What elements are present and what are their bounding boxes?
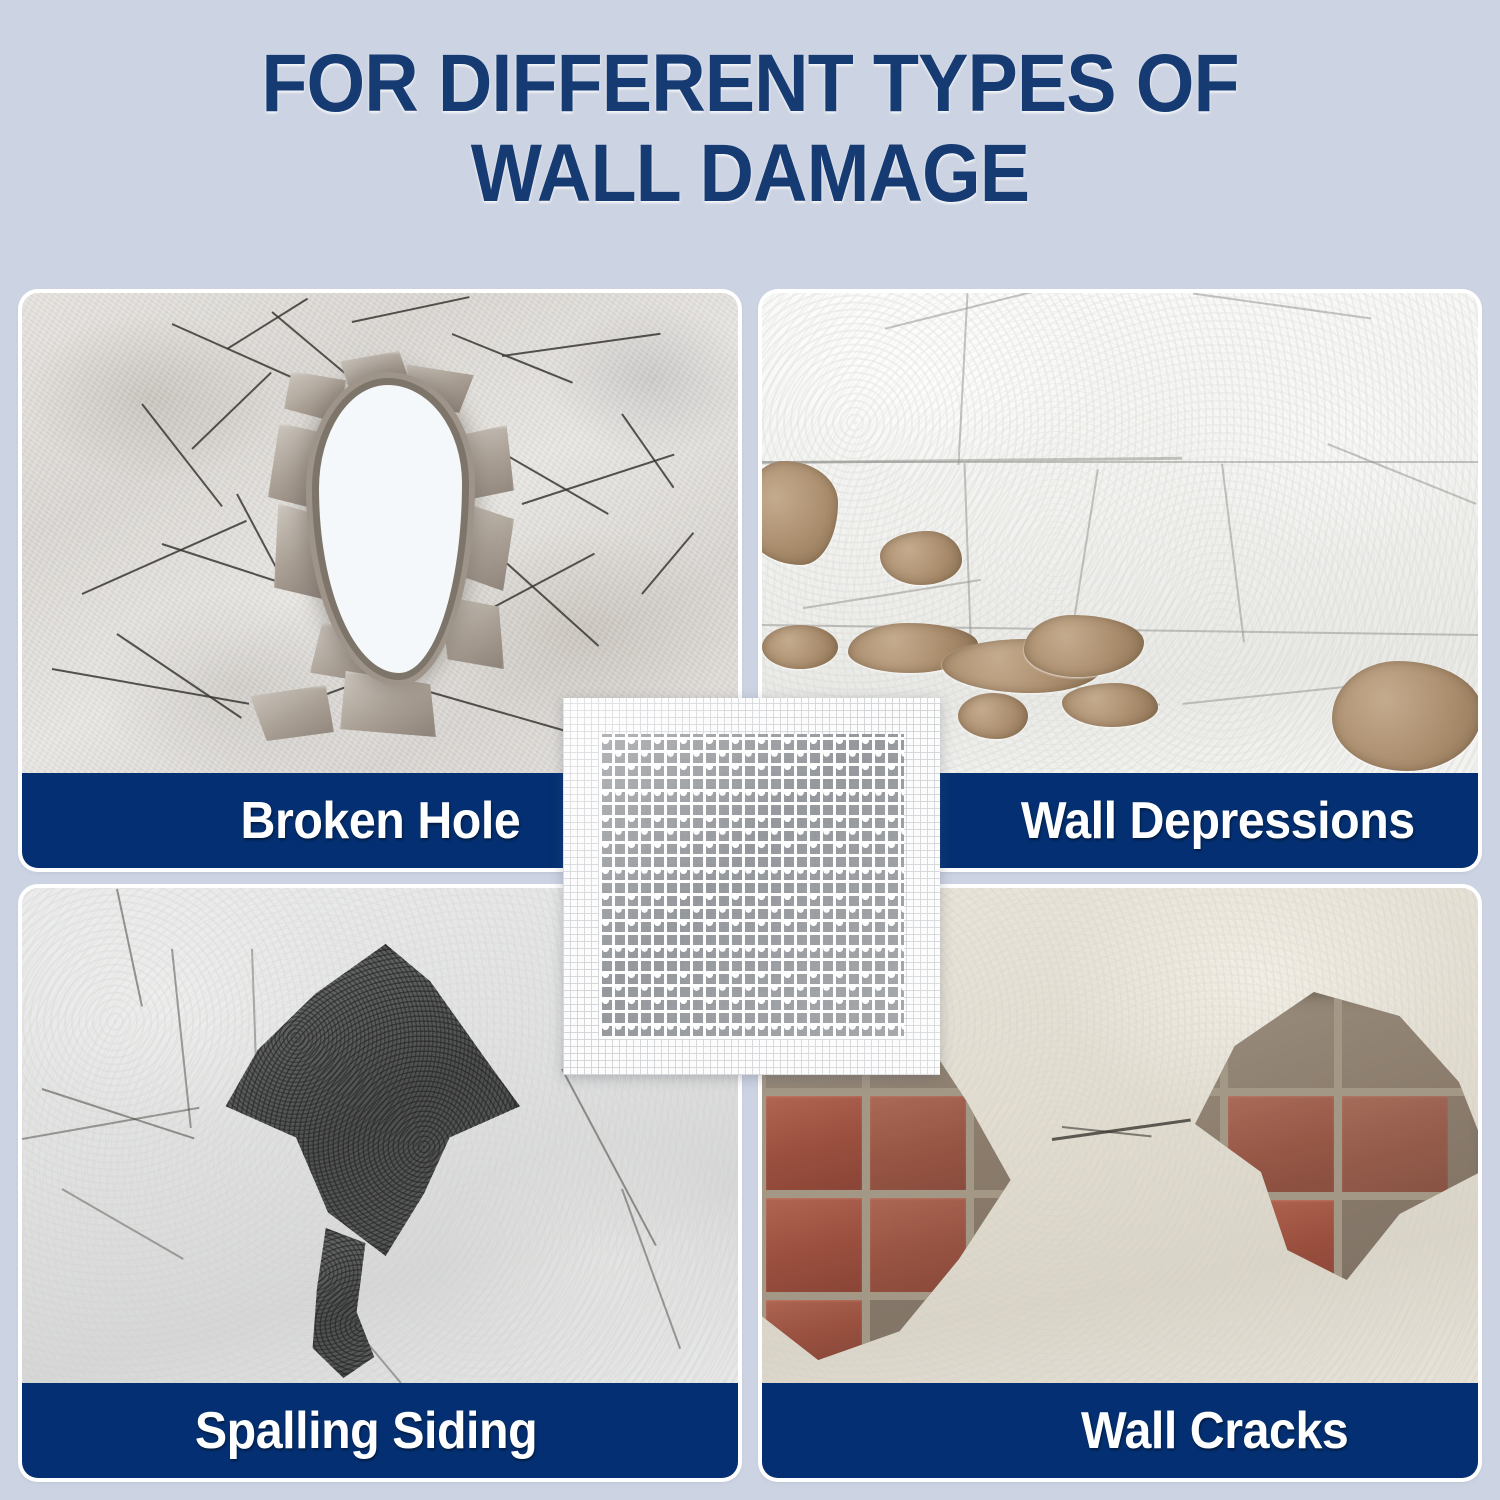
- label-bar-wall-cracks: Wall Cracks: [762, 1383, 1478, 1478]
- label-bar-spalling-siding: Spalling Siding: [22, 1383, 738, 1478]
- page-title-line-1: FOR DIFFERENT TYPES OF: [60, 42, 1440, 126]
- label-broken-hole: Broken Hole: [240, 791, 520, 851]
- page-title: FOR DIFFERENT TYPES OF WALL DAMAGE: [60, 42, 1440, 215]
- label-wall-depressions: Wall Depressions: [1021, 791, 1415, 851]
- label-wall-cracks: Wall Cracks: [1081, 1401, 1348, 1461]
- infographic-root: FOR DIFFERENT TYPES OF WALL DAMAGE: [0, 0, 1500, 1500]
- mesh-repair-patch[interactable]: [563, 698, 940, 1075]
- patch-sheen: [563, 698, 940, 1075]
- page-title-line-2: WALL DAMAGE: [60, 132, 1440, 216]
- label-spalling-siding: Spalling Siding: [195, 1401, 537, 1461]
